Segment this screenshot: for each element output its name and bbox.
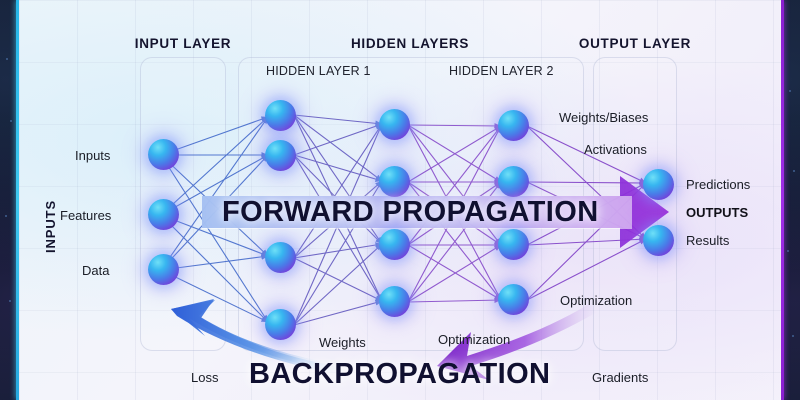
- hidden2-node-4[interactable]: [498, 284, 529, 315]
- output-node-1-label: Predictions: [686, 177, 750, 192]
- weights-annotation: Weights: [319, 335, 366, 350]
- inputs-vertical-label: INPUTS: [43, 200, 58, 253]
- hidden-layer-2-sublabel: HIDDEN LAYER 2: [449, 64, 554, 78]
- hidden1-node-3[interactable]: [265, 242, 296, 273]
- right-accent-line: [781, 0, 784, 400]
- outputs-label: OUTPUTS: [686, 205, 748, 220]
- hidden1-node-4[interactable]: [265, 309, 296, 340]
- optimization-output-annotation: Optimization: [560, 293, 632, 308]
- hidden2-node-2[interactable]: [498, 166, 529, 197]
- hidden1b-node-3[interactable]: [379, 229, 410, 260]
- input-node-2[interactable]: [148, 199, 179, 230]
- output-node-2-label: Results: [686, 233, 729, 248]
- hidden1-node-2[interactable]: [265, 140, 296, 171]
- hidden1b-node-4[interactable]: [379, 286, 410, 317]
- hidden1b-node-1[interactable]: [379, 109, 410, 140]
- input-node-2-label: Features: [60, 208, 111, 223]
- input-node-1-label: Inputs: [75, 148, 110, 163]
- hidden-layers-heading: HIDDEN LAYERS: [315, 36, 505, 51]
- output-node-1[interactable]: [643, 169, 674, 200]
- output-layer-heading: OUTPUT LAYER: [553, 36, 717, 51]
- forward-propagation-label: FORWARD PROPAGATION: [222, 196, 599, 229]
- loss-annotation: Loss: [191, 370, 218, 385]
- diagram-canvas: INPUT LAYER HIDDEN LAYERS OUTPUT LAYER H…: [0, 0, 800, 400]
- hidden1b-node-2[interactable]: [379, 166, 410, 197]
- weights-biases-annotation: Weights/Biases: [559, 110, 648, 125]
- light-canvas: INPUT LAYER HIDDEN LAYERS OUTPUT LAYER H…: [19, 0, 781, 400]
- backpropagation-label: BACKPROPAGATION: [249, 358, 550, 391]
- activations-annotation: Activations: [584, 142, 647, 157]
- hidden1-node-1[interactable]: [265, 100, 296, 131]
- input-node-3[interactable]: [148, 254, 179, 285]
- input-node-1[interactable]: [148, 139, 179, 170]
- right-decorative-band: [782, 0, 800, 400]
- optimization-hidden-annotation: Optimization: [438, 332, 510, 347]
- gradients-annotation: Gradients: [592, 370, 648, 385]
- input-layer-heading: INPUT LAYER: [101, 36, 265, 51]
- hidden2-node-3[interactable]: [498, 229, 529, 260]
- hidden2-node-1[interactable]: [498, 110, 529, 141]
- hidden-layer-1-sublabel: HIDDEN LAYER 1: [266, 64, 371, 78]
- output-node-2[interactable]: [643, 225, 674, 256]
- input-node-3-label: Data: [82, 263, 109, 278]
